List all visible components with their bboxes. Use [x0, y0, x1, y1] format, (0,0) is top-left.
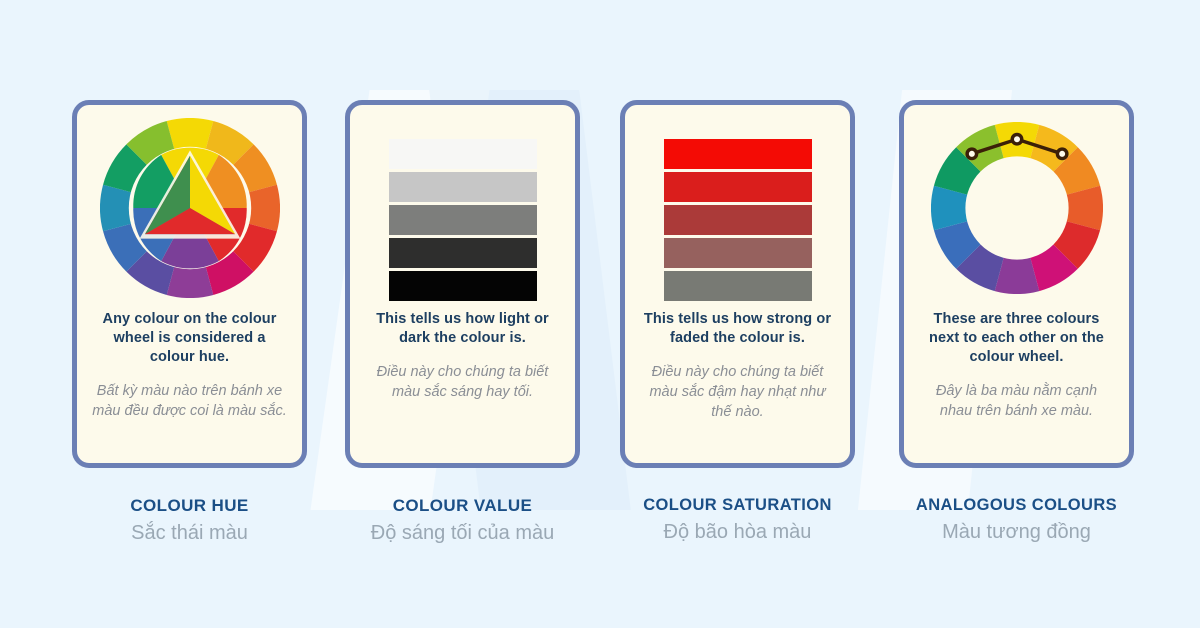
card-text-en: This tells us how strong or faded the co…: [639, 310, 836, 348]
card-column-analogous-colours: These are three colours next to each oth…: [899, 100, 1134, 544]
value-bar: [389, 172, 537, 202]
value-bar: [389, 238, 537, 268]
caption-title-vi: Màu tương đồng: [899, 521, 1134, 544]
card-column-colour-value: This tells us how light or dark the colo…: [345, 100, 580, 545]
value-bar: [389, 205, 537, 235]
card-text-en: These are three colours next to each oth…: [918, 310, 1115, 367]
card-colour-value-text: This tells us how light or dark the colo…: [350, 310, 575, 402]
card-text-vi: Điều này cho chúng ta biết màu sắc đậm h…: [639, 362, 836, 422]
saturation-bar: [664, 205, 812, 235]
caption-colour-hue: COLOUR HUE Sắc thái màu: [72, 496, 307, 545]
caption-title-en: COLOUR SATURATION: [620, 496, 855, 515]
caption-title-vi: Độ bão hòa màu: [620, 521, 855, 544]
card-column-colour-saturation: This tells us how strong or faded the co…: [620, 100, 855, 544]
concept-card-grid: Any colour on the colour wheel is consid…: [0, 0, 1200, 628]
colour-wheel-icon: [100, 118, 280, 298]
card-text-en: This tells us how light or dark the colo…: [364, 310, 561, 348]
card-text-vi: Điều này cho chúng ta biết màu sắc sáng …: [364, 362, 561, 402]
colour-saturation-art: [625, 105, 850, 310]
card-text-vi: Đây là ba màu nằm cạnh nhau trên bánh xe…: [918, 381, 1115, 421]
analogous-colours-art: [904, 105, 1129, 310]
caption-title-vi: Độ sáng tối của màu: [345, 522, 580, 545]
saturation-bar: [664, 172, 812, 202]
card-colour-saturation-text: This tells us how strong or faded the co…: [625, 310, 850, 422]
colour-ring-with-markers-icon: [931, 122, 1103, 294]
card-colour-saturation[interactable]: This tells us how strong or faded the co…: [620, 100, 855, 468]
caption-title-en: COLOUR HUE: [72, 496, 307, 516]
value-bar: [389, 139, 537, 169]
caption-colour-value: COLOUR VALUE Độ sáng tối của màu: [345, 496, 580, 545]
grayscale-bars: [389, 139, 537, 301]
card-column-colour-hue: Any colour on the colour wheel is consid…: [72, 100, 307, 545]
caption-analogous-colours: ANALOGOUS COLOURS Màu tương đồng: [899, 496, 1134, 544]
saturation-bar: [664, 238, 812, 268]
caption-title-vi: Sắc thái màu: [72, 522, 307, 545]
caption-colour-saturation: COLOUR SATURATION Độ bão hòa màu: [620, 496, 855, 544]
caption-title-en: COLOUR VALUE: [345, 496, 580, 516]
saturation-bar: [664, 271, 812, 301]
colour-value-art: [350, 105, 575, 310]
colour-hue-art: [77, 105, 302, 310]
caption-title-en: ANALOGOUS COLOURS: [899, 496, 1134, 515]
card-analogous-colours[interactable]: These are three colours next to each oth…: [899, 100, 1134, 468]
card-colour-value[interactable]: This tells us how light or dark the colo…: [345, 100, 580, 468]
value-bar: [389, 271, 537, 301]
card-text-en: Any colour on the colour wheel is consid…: [91, 310, 288, 367]
saturation-bar: [664, 139, 812, 169]
card-text-vi: Bất kỳ màu nào trên bánh xe màu đều được…: [91, 381, 288, 421]
card-colour-hue[interactable]: Any colour on the colour wheel is consid…: [72, 100, 307, 468]
card-colour-hue-text: Any colour on the colour wheel is consid…: [77, 310, 302, 421]
saturation-bars: [664, 139, 812, 301]
card-analogous-colours-text: These are three colours next to each oth…: [904, 310, 1129, 421]
